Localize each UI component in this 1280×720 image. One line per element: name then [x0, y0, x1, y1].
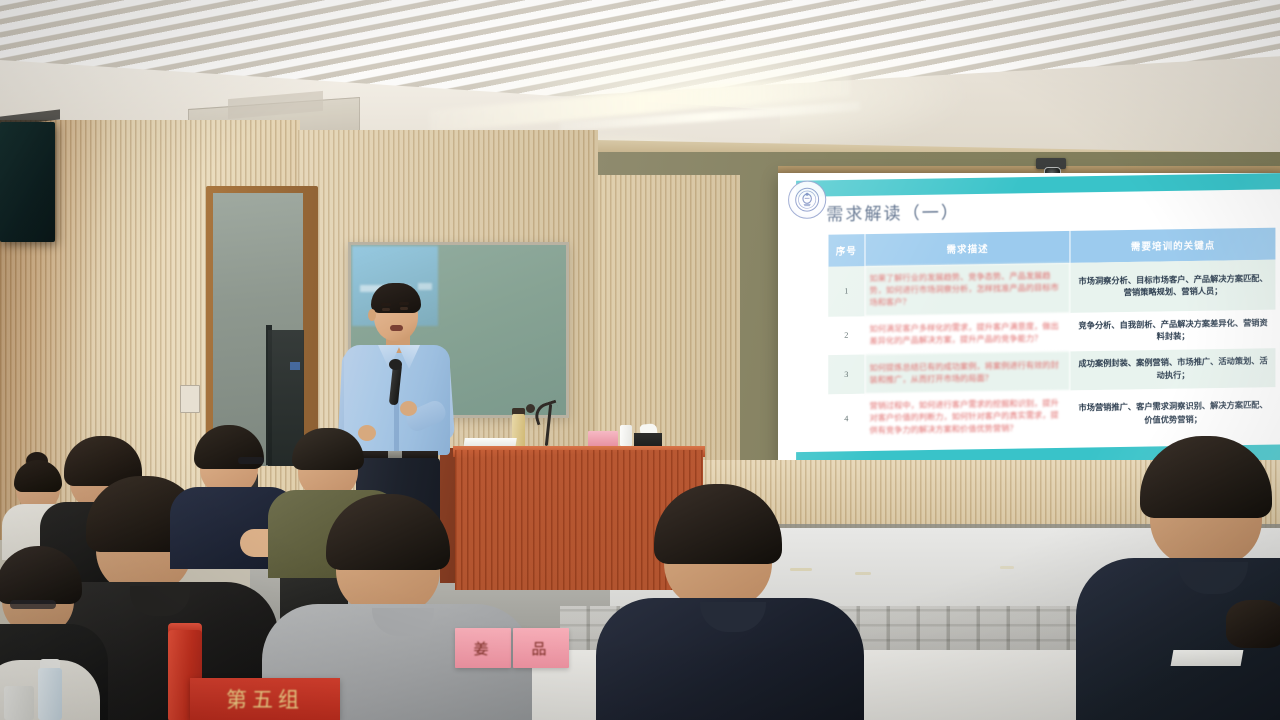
cell-no: 3	[828, 355, 865, 394]
hair	[292, 428, 364, 470]
cell-key: 竞争分析、自我剖析、产品解决方案差异化、营销资料封装；	[1070, 310, 1275, 352]
water-bottle	[38, 668, 62, 720]
handheld-microphone-head-icon	[389, 359, 402, 370]
presenter-hand-right	[400, 401, 417, 416]
slide-title: 需求解读（一）	[826, 198, 960, 225]
placard-row-five: 第五组	[190, 678, 340, 720]
slide-surface: 需求解读（一） 序号 需求描述 需要培训的关键点 1 如果了解行业的发展趋势、竞…	[778, 173, 1280, 468]
placard-label: 品	[531, 638, 550, 659]
podium-pink-box	[588, 431, 618, 447]
cell-no: 2	[828, 316, 865, 355]
hair	[1226, 600, 1280, 648]
placard-name-right: 品	[513, 628, 569, 668]
floor-mark	[1000, 566, 1014, 569]
presenter-mouth	[390, 325, 403, 331]
th-key: 需要培训的关键点	[1070, 227, 1275, 262]
presenter-ear	[368, 309, 376, 321]
presenter-brow-left	[381, 303, 391, 306]
hair	[326, 494, 450, 570]
door-blue-marker	[290, 362, 300, 370]
hair	[654, 484, 782, 564]
glasses-icon	[10, 600, 56, 609]
presenter-hair	[371, 283, 421, 313]
th-no: 序号	[828, 234, 865, 267]
wall-monitor	[0, 122, 55, 242]
conference-room-photo: 需求解读（一） 序号 需求描述 需要培训的关键点 1 如果了解行业的发展趋势、竞…	[0, 0, 1280, 720]
presenter-eye-right	[400, 307, 408, 310]
cell-desc: 营销过程中，如何进行客户需求的挖掘和识别，提升对客户价值的判断力，如何针对客户的…	[865, 390, 1070, 443]
cell-desc: 如果了解行业的发展趋势、竞争态势、产品发展趋势，如何进行市场洞察分析，怎样找准产…	[865, 263, 1070, 316]
podium-paper-cup	[620, 425, 632, 446]
cell-key: 成功案例封装、案例营销、市场推广、活动策划、活动执行；	[1070, 348, 1275, 390]
placard-label: 姜	[473, 638, 492, 659]
slide-top-band	[796, 173, 1280, 197]
th-desc: 需求描述	[865, 231, 1070, 266]
light-switch[interactable]	[180, 385, 200, 413]
presenter-eye-left	[382, 308, 390, 311]
placard-name-left: 姜	[455, 628, 511, 668]
water-bottle	[4, 686, 34, 720]
presenter-brow-right	[399, 302, 409, 305]
podium-microphone-head-icon	[526, 404, 535, 413]
institution-emblem-icon	[788, 180, 826, 219]
cell-key: 市场洞察分析、目标市场客户、产品解决方案匹配、营销策略规划、营销人员；	[1070, 260, 1275, 313]
hair	[1140, 436, 1272, 518]
cell-desc: 如何提炼总结已有的成功案例，将案例进行有效的封装和推广，从而打开市场的局面？	[865, 352, 1070, 394]
hair	[0, 546, 82, 604]
cell-no: 1	[828, 266, 865, 316]
handout-paper	[1171, 650, 1244, 666]
placard-label: 第五组	[226, 684, 304, 714]
cell-no: 4	[828, 394, 865, 444]
requirements-table: 序号 需求描述 需要培训的关键点 1 如果了解行业的发展趋势、竞争态势、产品发展…	[828, 227, 1275, 444]
glasses-icon	[238, 457, 264, 464]
audience-member	[600, 490, 860, 720]
projection-screen[interactable]: 需求解读（一） 序号 需求描述 需要培训的关键点 1 如果了解行业的发展趋势、竞…	[778, 173, 1280, 468]
table-row: 1 如果了解行业的发展趋势、竞争态势、产品发展趋势，如何进行市场洞察分析，怎样找…	[828, 260, 1275, 317]
cell-key: 市场营销推广、客户需求洞察识别、解决方案匹配、价值优势营销；	[1070, 387, 1275, 440]
cell-desc: 如何满足客户多样化的需求，提升客户满意度，做出差异化的产品解决方案，提升产品的竞…	[865, 313, 1070, 355]
